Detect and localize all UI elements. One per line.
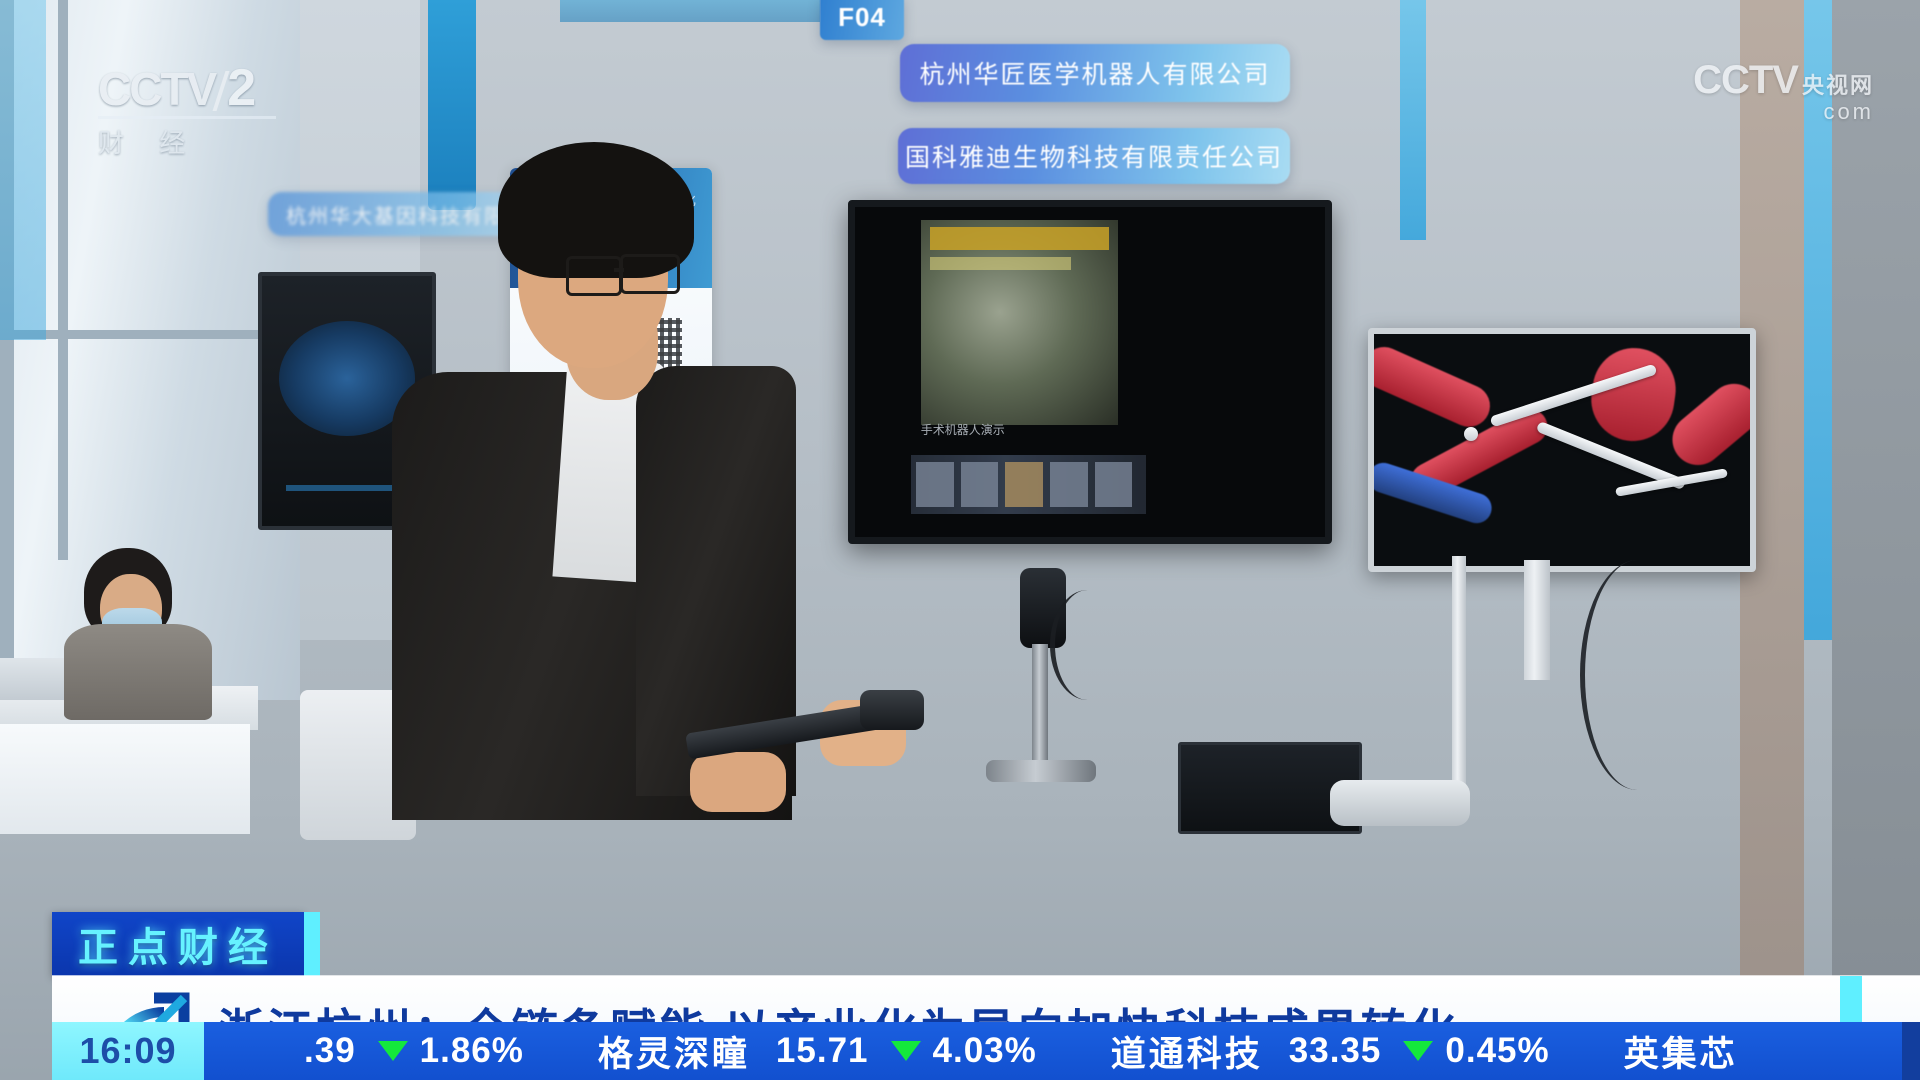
monitor-stand bbox=[1524, 560, 1550, 680]
blue-accent-strip bbox=[1400, 0, 1426, 240]
watermark-cctv: CCTV bbox=[1693, 58, 1798, 102]
desk-object bbox=[0, 658, 64, 700]
down-arrow-icon bbox=[891, 1041, 921, 1061]
down-arrow-icon bbox=[378, 1041, 408, 1061]
cctv-wordmark: CCTV bbox=[98, 63, 215, 115]
ticker-clock: 16:09 bbox=[52, 1022, 204, 1080]
blue-accent-panel bbox=[428, 0, 476, 210]
instrument-handle bbox=[860, 690, 924, 730]
down-arrow-icon bbox=[1403, 1041, 1433, 1061]
equipment-pole bbox=[1452, 556, 1466, 786]
person-seated-body bbox=[64, 624, 212, 720]
glasses-icon bbox=[620, 254, 680, 294]
ticker-stock-price: .39 bbox=[304, 1031, 356, 1071]
booth-company-sign: 国科雅迪生物科技有限责任公司 bbox=[898, 128, 1290, 184]
blue-accent-strip bbox=[560, 0, 820, 22]
booth-code-sign: F04 bbox=[820, 0, 904, 40]
glasses-bridge bbox=[614, 268, 624, 272]
presenter-hand bbox=[690, 752, 786, 812]
ticker-stock-name: 英集芯 bbox=[1624, 1026, 1738, 1077]
glasses-icon bbox=[566, 256, 622, 296]
video-thumbnail-strip bbox=[911, 455, 1146, 514]
clock-time: 16:09 bbox=[79, 1030, 176, 1072]
ticker-stock-price: 33.35 bbox=[1289, 1031, 1382, 1071]
channel-number: 2 bbox=[227, 59, 254, 117]
ticker-item[interactable]: .39 1.86% bbox=[278, 1031, 524, 1071]
watermark-cn: 央视网 bbox=[1802, 73, 1874, 98]
program-badge-box: 正点财经 bbox=[52, 912, 304, 976]
ticker-item[interactable]: 道通科技 33.35 0.45% bbox=[1111, 1026, 1550, 1077]
ticker-item[interactable]: 英集芯 bbox=[1624, 1026, 1764, 1077]
program-badge-cap bbox=[304, 912, 320, 976]
microphone-cable bbox=[1050, 590, 1125, 700]
booth-company-sign: 杭州华匠医学机器人有限公司 bbox=[900, 44, 1290, 102]
wall-tv-display: 手术机器人演示 bbox=[848, 200, 1332, 544]
ticker-item[interactable]: 格灵深瞳 15.71 4.03% bbox=[598, 1026, 1037, 1077]
vascular-monitor bbox=[1368, 328, 1756, 572]
ticker-stock-name: 格灵深瞳 bbox=[598, 1026, 750, 1077]
ticker-items[interactable]: .39 1.86% 格灵深瞳 15.71 4.03% 道通科技 33.35 0.… bbox=[204, 1022, 1902, 1080]
program-name: 正点财经 bbox=[78, 915, 278, 973]
cable bbox=[1580, 560, 1695, 790]
ticker-right-cap bbox=[1902, 1022, 1920, 1080]
window-blue-tint bbox=[0, 0, 46, 340]
robot-arm-module bbox=[1330, 780, 1470, 826]
reception-desk-front bbox=[0, 724, 250, 834]
broadcast-frame: F04 杭州华匠医学机器人有限公司 国科雅迪生物科技有限责任公司 杭州华大基因科… bbox=[0, 0, 1920, 1080]
channel-subtitle: 财 经 bbox=[98, 123, 318, 160]
ticker-stock-price: 15.71 bbox=[776, 1031, 869, 1071]
program-badge: 正点财经 bbox=[52, 912, 320, 976]
wall-edge bbox=[1832, 0, 1920, 1080]
ticker-stock-change: 4.03% bbox=[933, 1031, 1037, 1071]
endoscopy-video-feed bbox=[921, 220, 1118, 425]
cctv-com-watermark: CCTV央视网 com bbox=[1693, 58, 1874, 125]
window-mullion bbox=[58, 0, 68, 560]
cctv2-channel-logo: CCTV2 财 经 bbox=[98, 62, 318, 167]
microphone-stand bbox=[1032, 644, 1048, 770]
ticker-stock-change: 0.45% bbox=[1445, 1031, 1549, 1071]
microphone-base bbox=[986, 760, 1096, 782]
ticker-stock-change: 1.86% bbox=[420, 1031, 524, 1071]
stock-ticker-bar: 16:09 .39 1.86% 格灵深瞳 15.71 4.03% bbox=[52, 1022, 1920, 1080]
ticker-stock-name: 道通科技 bbox=[1111, 1026, 1263, 1077]
